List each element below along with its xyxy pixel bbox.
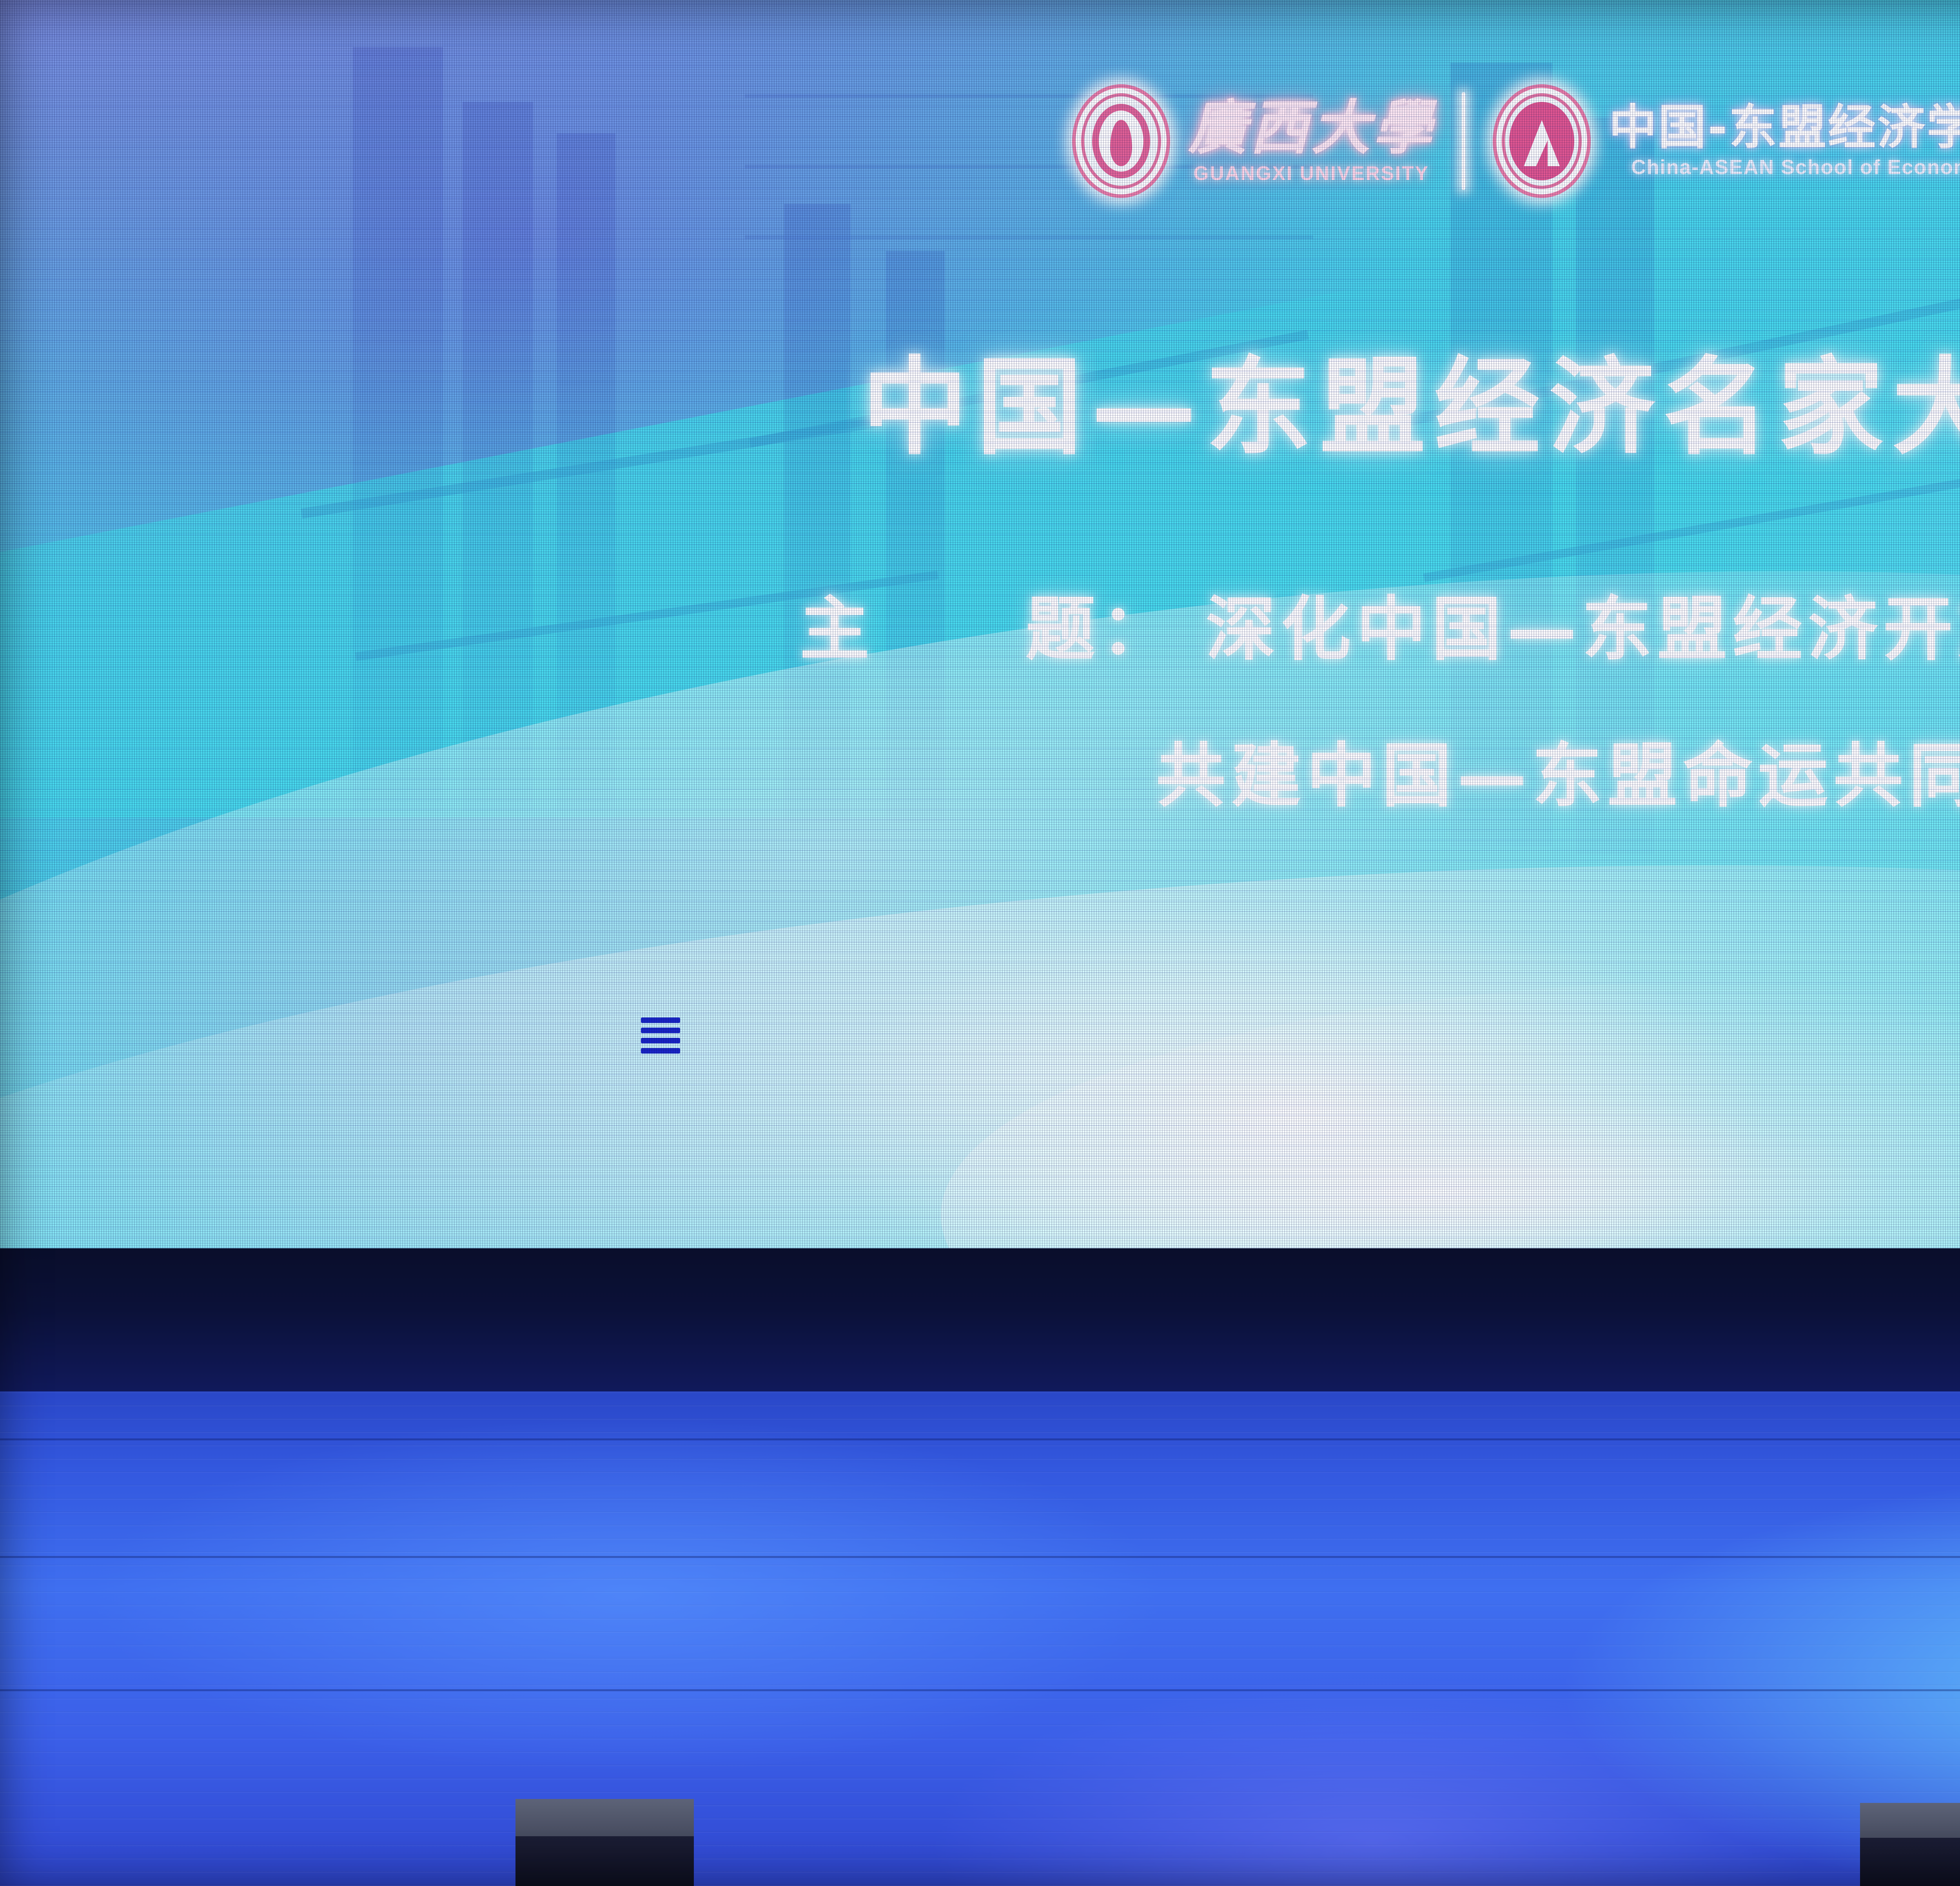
guangxi-university-seal-icon <box>1072 84 1170 198</box>
logo-china-asean-school: 中国-东盟经济学院 China-ASEAN School of Economic… <box>1493 84 1960 198</box>
guangxi-university-name-en: GUANGXI UNIVERSITY <box>1194 162 1429 185</box>
guangxi-university-name-cn: 廣西大學 <box>1188 98 1434 158</box>
logo-divider <box>1462 92 1465 190</box>
logo-guangxi-university: 廣西大學 GUANGXI UNIVERSITY <box>1072 84 1434 198</box>
china-asean-school-seal-icon <box>1493 84 1591 198</box>
floor-plank-texture <box>0 1391 1960 1886</box>
china-asean-school-name-en: China-ASEAN School of Economics <box>1631 156 1960 179</box>
four-bar-stripe-mark-icon-body <box>641 1017 680 1054</box>
stage-monitor-left <box>515 1799 694 1886</box>
back-wall-dark-band <box>0 1235 1960 1399</box>
logo-row: 廣西大學 GUANGXI UNIVERSITY 中国-东盟经济学院 China-… <box>0 71 1960 212</box>
stage-floor <box>0 1391 1960 1886</box>
stage-monitor-right <box>1860 1803 1960 1886</box>
event-subtitle-line-2: 共建中国—东盟命运共同体 <box>0 720 1960 820</box>
china-asean-school-name-cn: 中国-东盟经济学院 <box>1609 103 1960 152</box>
led-screen: 廣西大學 GUANGXI UNIVERSITY 中国-东盟经济学院 China-… <box>0 0 1960 1248</box>
slide-content: 廣西大學 GUANGXI UNIVERSITY 中国-东盟经济学院 China-… <box>0 0 1960 1248</box>
event-main-title: 中国—东盟经济名家大讲堂 <box>0 321 1960 475</box>
event-subtitle-line-1: 主 题： 深化中国—东盟经济开放合作 <box>0 573 1960 674</box>
stage-scene: 廣西大學 GUANGXI UNIVERSITY 中国-东盟经济学院 China-… <box>0 0 1960 1886</box>
